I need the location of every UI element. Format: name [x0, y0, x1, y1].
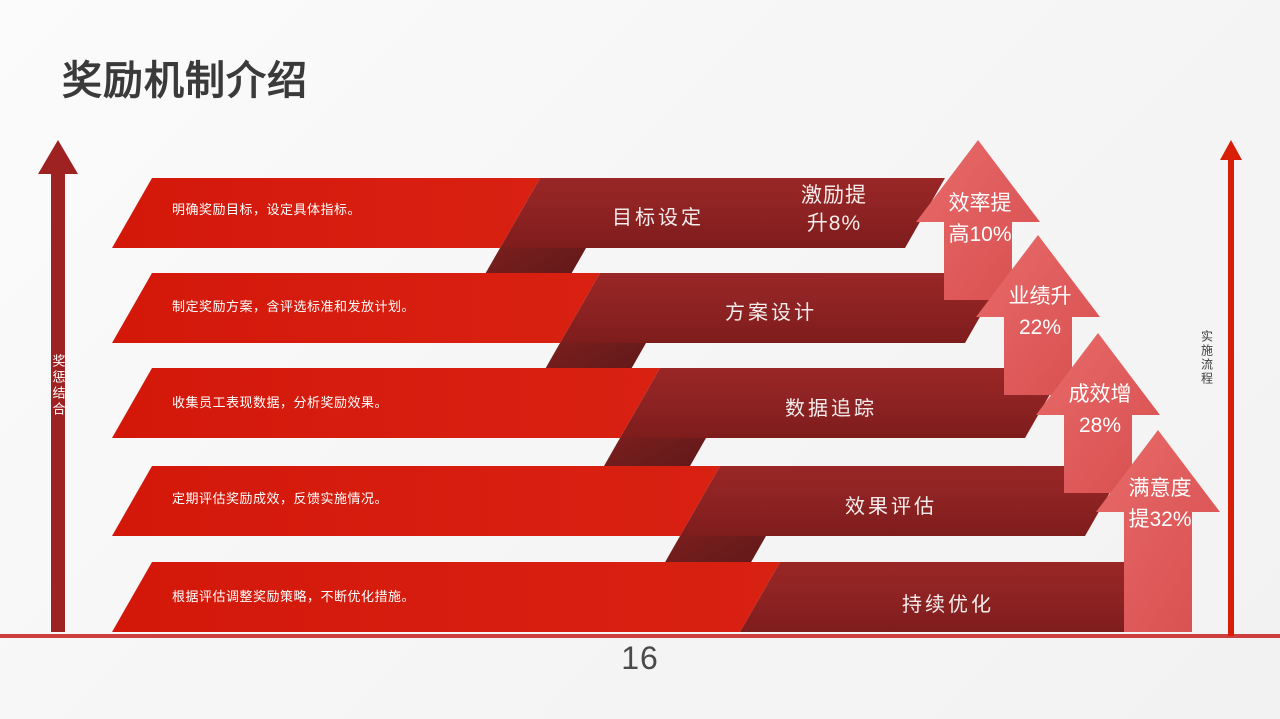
slide-canvas: 奖励机制介绍: [0, 0, 1280, 719]
row-2-title: 方案设计: [725, 296, 817, 325]
right-axis-label: 实施流程: [1199, 330, 1216, 386]
row-5-description: 根据评估调整奖励策略，不断优化措施。: [172, 586, 415, 605]
right-axis-arrow: [1218, 140, 1244, 636]
row-1-metric: 激励提升8%: [792, 182, 876, 238]
row-2-description: 制定奖励方案，含评选标准和发放计划。: [172, 296, 415, 315]
row-4-description: 定期评估奖励成效，反馈实施情况。: [172, 488, 388, 507]
outcome-arrow-1-label: 效率提高10%: [944, 188, 1016, 250]
page-number: 16: [0, 640, 1280, 677]
outcome-arrow-4-label: 满意度提32%: [1124, 473, 1196, 535]
row-4-title: 效果评估: [845, 490, 937, 519]
up-arrow-icon: [1220, 140, 1242, 636]
row-1-description: 明确奖励目标，设定具体指标。: [172, 199, 361, 218]
row-3-title: 数据追踪: [785, 392, 877, 421]
up-arrow-icon: [38, 140, 78, 632]
row-5-title: 持续优化: [902, 588, 994, 617]
footer-accent-line: [0, 634, 1280, 638]
row-1-title-band: [500, 178, 945, 248]
row-1-title: 目标设定: [612, 201, 704, 230]
process-flow-diagram: [0, 0, 1280, 719]
right-axis-label-wrap: 实施流程: [1196, 330, 1218, 386]
row-3-description: 收集员工表现数据，分析奖励效果。: [172, 392, 388, 411]
left-axis-arrow: 奖惩结合: [38, 140, 78, 632]
outcome-arrow-3-label: 成效增28%: [1064, 379, 1136, 441]
outcome-arrow-2-label: 业绩升22%: [1004, 281, 1076, 343]
